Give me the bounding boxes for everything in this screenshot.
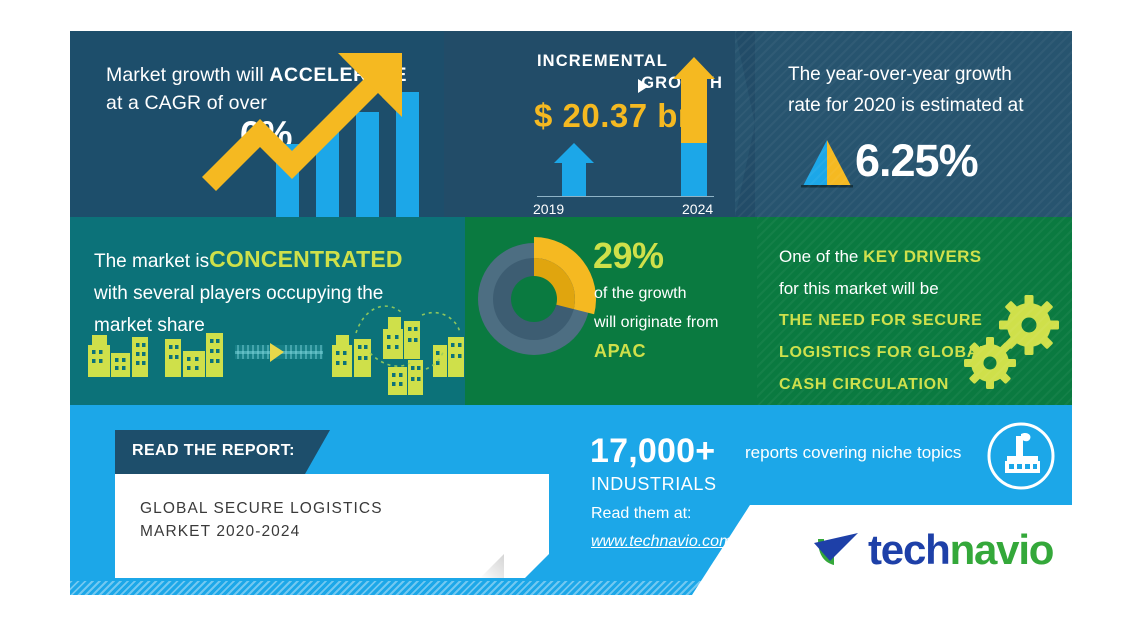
- logo-text-tech: tech: [868, 526, 950, 573]
- panel-market-growth-accelerate: Market growth will ACCELERATE at a CAGR …: [70, 31, 444, 217]
- bar-chart-icon: [70, 31, 444, 217]
- incremental-axis-label-2024: 2024: [682, 201, 713, 217]
- report-title-card[interactable]: GLOBAL SECURE LOGISTICS MARKET 2020-2024: [115, 474, 549, 578]
- panel-market-concentrated: The market isCONCENTRATED with several p…: [70, 217, 465, 405]
- panel-incremental-growth: INCREMENTAL GROWTH $ 20.37 bn 2019 2024: [444, 31, 735, 217]
- report-title: GLOBAL SECURE LOGISTICS MARKET 2020-2024: [140, 497, 383, 543]
- drivers-line1-pre: One of the: [779, 247, 863, 266]
- connector-arrow-icon: [235, 343, 323, 362]
- apac-percentage: 29%: [593, 235, 664, 277]
- panel-yoy-growth-rate: The year-over-year growth rate for 2020 …: [735, 31, 1072, 217]
- infographic: Market growth will ACCELERATE at a CAGR …: [70, 31, 1072, 595]
- read-the-report-label: READ THE REPORT:: [132, 442, 295, 460]
- logo-text-navio: navio: [950, 526, 1054, 573]
- reports-count: 17,000+: [590, 432, 715, 471]
- gears-icon: [955, 291, 1072, 401]
- reports-caption: reports covering niche topics: [745, 443, 961, 463]
- infographic-canvas: Market growth will ACCELERATE at a CAGR …: [0, 0, 1140, 627]
- apac-region: APAC: [594, 337, 718, 366]
- growth-triangle-icon: [735, 31, 1072, 217]
- technavio-website-link[interactable]: www.technavio.com: [591, 533, 732, 551]
- footer-texture-band: [70, 581, 1072, 595]
- drivers-keyword: KEY DRIVERS: [863, 247, 981, 266]
- incremental-axis-label-2019: 2019: [533, 201, 564, 217]
- read-them-at-label: Read them at:: [591, 505, 692, 523]
- yoy-value: 6.25%: [855, 135, 978, 187]
- technavio-logo[interactable]: technavio: [810, 525, 1053, 575]
- technavio-arrow-logo-icon: [810, 527, 862, 573]
- incremental-axis-line: [537, 196, 714, 197]
- apac-line2: will originate from: [594, 308, 718, 337]
- donut-chart-icon: [471, 231, 601, 381]
- panel-apac-growth-share: 29% of the growth will originate from AP…: [465, 217, 757, 405]
- report-category: INDUSTRIALS: [591, 474, 717, 495]
- read-the-report-banner: READ THE REPORT:: [115, 430, 330, 474]
- panel-key-drivers: One of the KEY DRIVERS for this market w…: [757, 217, 1072, 405]
- report-title-line2: MARKET 2020-2024: [140, 520, 383, 543]
- factory-icon: [985, 420, 1057, 492]
- panel-footer: READ THE REPORT: GLOBAL SECURE LOGISTICS…: [70, 405, 1072, 595]
- apac-line1: of the growth: [594, 279, 718, 308]
- arrow-bar-2019-icon: [554, 143, 594, 196]
- apac-text: of the growth will originate from APAC: [594, 279, 718, 366]
- report-title-line1: GLOBAL SECURE LOGISTICS: [140, 497, 383, 520]
- city-cluster-icon: [70, 217, 465, 405]
- incremental-bars: [444, 31, 735, 217]
- arrow-bar-2024-icon: [673, 57, 715, 196]
